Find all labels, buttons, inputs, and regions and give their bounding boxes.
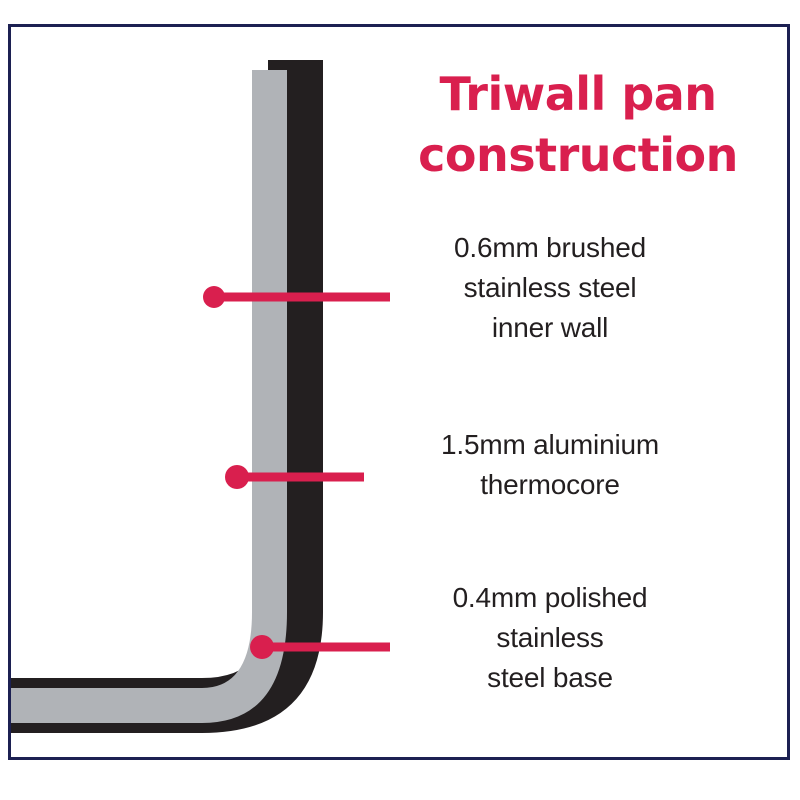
callout-line: 0.4mm polished bbox=[392, 578, 708, 618]
callout-line: stainless bbox=[392, 618, 708, 658]
callout-line: steel base bbox=[392, 658, 708, 698]
title-line-2: construction bbox=[378, 125, 778, 186]
leader-dot-inner-wall bbox=[203, 286, 225, 308]
page-title: Triwall pan construction bbox=[378, 64, 778, 185]
callout-line: inner wall bbox=[392, 308, 708, 348]
infographic-canvas: Triwall pan construction 0.6mm brushed s… bbox=[0, 0, 800, 800]
title-line-1: Triwall pan bbox=[378, 64, 778, 125]
wall-highlight-line bbox=[206, 57, 269, 60]
callout-label-thermocore: 1.5mm aluminium thermocore bbox=[378, 425, 722, 505]
callout-line: thermocore bbox=[378, 465, 722, 505]
aluminium-thermocore-layer bbox=[11, 70, 287, 723]
callout-line: 0.6mm brushed bbox=[392, 228, 708, 268]
callout-line: 1.5mm aluminium bbox=[378, 425, 722, 465]
callout-line: stainless steel bbox=[392, 268, 708, 308]
callout-label-inner-wall: 0.6mm brushed stainless steel inner wall bbox=[392, 228, 708, 347]
leader-dot-thermocore bbox=[225, 465, 249, 489]
leader-dot-steel-base bbox=[250, 635, 274, 659]
callout-label-steel-base: 0.4mm polished stainless steel base bbox=[392, 578, 708, 697]
